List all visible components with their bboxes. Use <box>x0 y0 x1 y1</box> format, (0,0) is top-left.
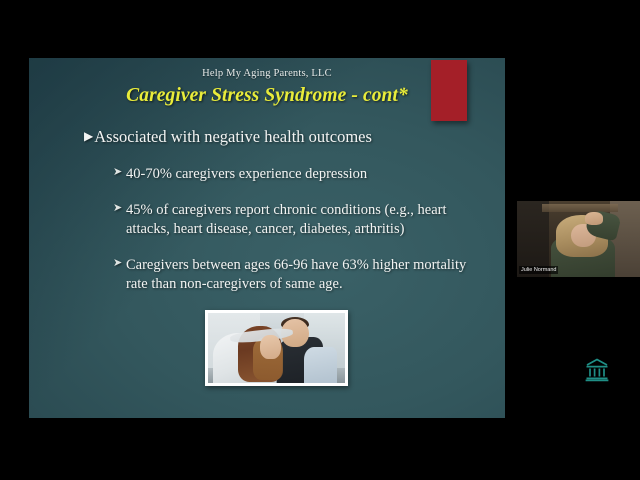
arrow-bullet-icon: ➤ <box>113 201 122 215</box>
slide-photo-couple-comforting <box>205 310 348 386</box>
slide-company-line: Help My Aging Parents, LLC <box>29 68 505 79</box>
arrow-bullet-icon: ➤ <box>113 256 122 270</box>
screen-share-viewport: Help My Aging Parents, LLC Caregiver Str… <box>0 0 640 480</box>
bank-building-icon <box>583 356 611 384</box>
presentation-slide: Help My Aging Parents, LLC Caregiver Str… <box>29 58 505 418</box>
bullet-text: 45% of caregivers report chronic conditi… <box>126 202 447 237</box>
bullet-text: Caregivers between ages 66-96 have 63% h… <box>126 257 466 292</box>
slide-photo-image <box>208 313 345 383</box>
arrow-bullet-icon: ➤ <box>113 165 122 179</box>
slide-bullet-list: ▶Associated with negative health outcome… <box>29 127 505 294</box>
bullet-text: Associated with negative health outcomes <box>94 127 372 146</box>
bullet-text: 40-70% caregivers experience depression <box>126 166 367 182</box>
bullet-level1: ▶Associated with negative health outcome… <box>84 127 505 147</box>
participant-video-tile[interactable]: Julie Normand <box>517 201 640 277</box>
bullet-level2: ➤ 45% of caregivers report chronic condi… <box>113 201 476 238</box>
triangle-bullet-icon: ▶ <box>84 129 93 143</box>
bullet-level2: ➤ Caregivers between ages 66-96 have 63%… <box>113 256 476 293</box>
bullet-level2: ➤ 40-70% caregivers experience depressio… <box>113 165 476 184</box>
participant-name-label: Julie Normand <box>519 266 558 274</box>
slide-title: Caregiver Stress Syndrome - cont* <box>29 85 505 107</box>
